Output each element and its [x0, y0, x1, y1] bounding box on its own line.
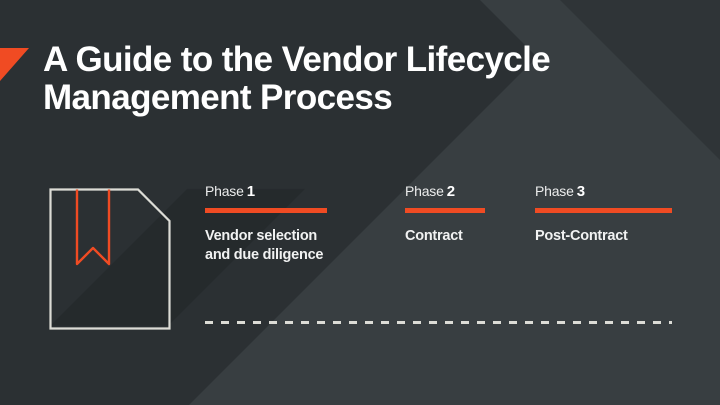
phase-3-description: Post-Contract — [535, 227, 675, 246]
document-bookmark-icon — [48, 187, 172, 336]
phase-1-heading: Phase1 — [205, 184, 335, 199]
page-title-line-2: Management Process — [43, 79, 683, 117]
phase-3-rule — [535, 208, 672, 213]
slide-canvas: A Guide to the Vendor Lifecycle Manageme… — [0, 0, 720, 405]
dashed-timeline — [205, 321, 672, 324]
phase-list: Phase1 Vendor selection and due diligenc… — [205, 184, 675, 304]
page-title-line-1: A Guide to the Vendor Lifecycle — [43, 41, 683, 79]
phase-item-3: Phase3 Post-Contract — [535, 184, 675, 246]
phase-1-description: Vendor selection and due diligence — [205, 227, 335, 266]
phase-item-1: Phase1 Vendor selection and due diligenc… — [205, 184, 335, 266]
phase-2-label: Phase — [405, 183, 444, 199]
phase-3-number: 3 — [577, 183, 585, 200]
phase-2-heading: Phase2 — [405, 184, 525, 199]
phase-1-label: Phase — [205, 183, 244, 199]
phase-1-rule — [205, 208, 327, 213]
phase-2-description: Contract — [405, 227, 525, 246]
phase-3-label: Phase — [535, 183, 574, 199]
phase-2-number: 2 — [447, 183, 455, 200]
phase-item-2: Phase2 Contract — [405, 184, 525, 246]
phase-3-heading: Phase3 — [535, 184, 675, 199]
phase-1-number: 1 — [247, 183, 255, 200]
page-title: A Guide to the Vendor Lifecycle Manageme… — [43, 41, 683, 117]
accent-triangle-icon — [0, 48, 29, 81]
phase-2-rule — [405, 208, 485, 213]
